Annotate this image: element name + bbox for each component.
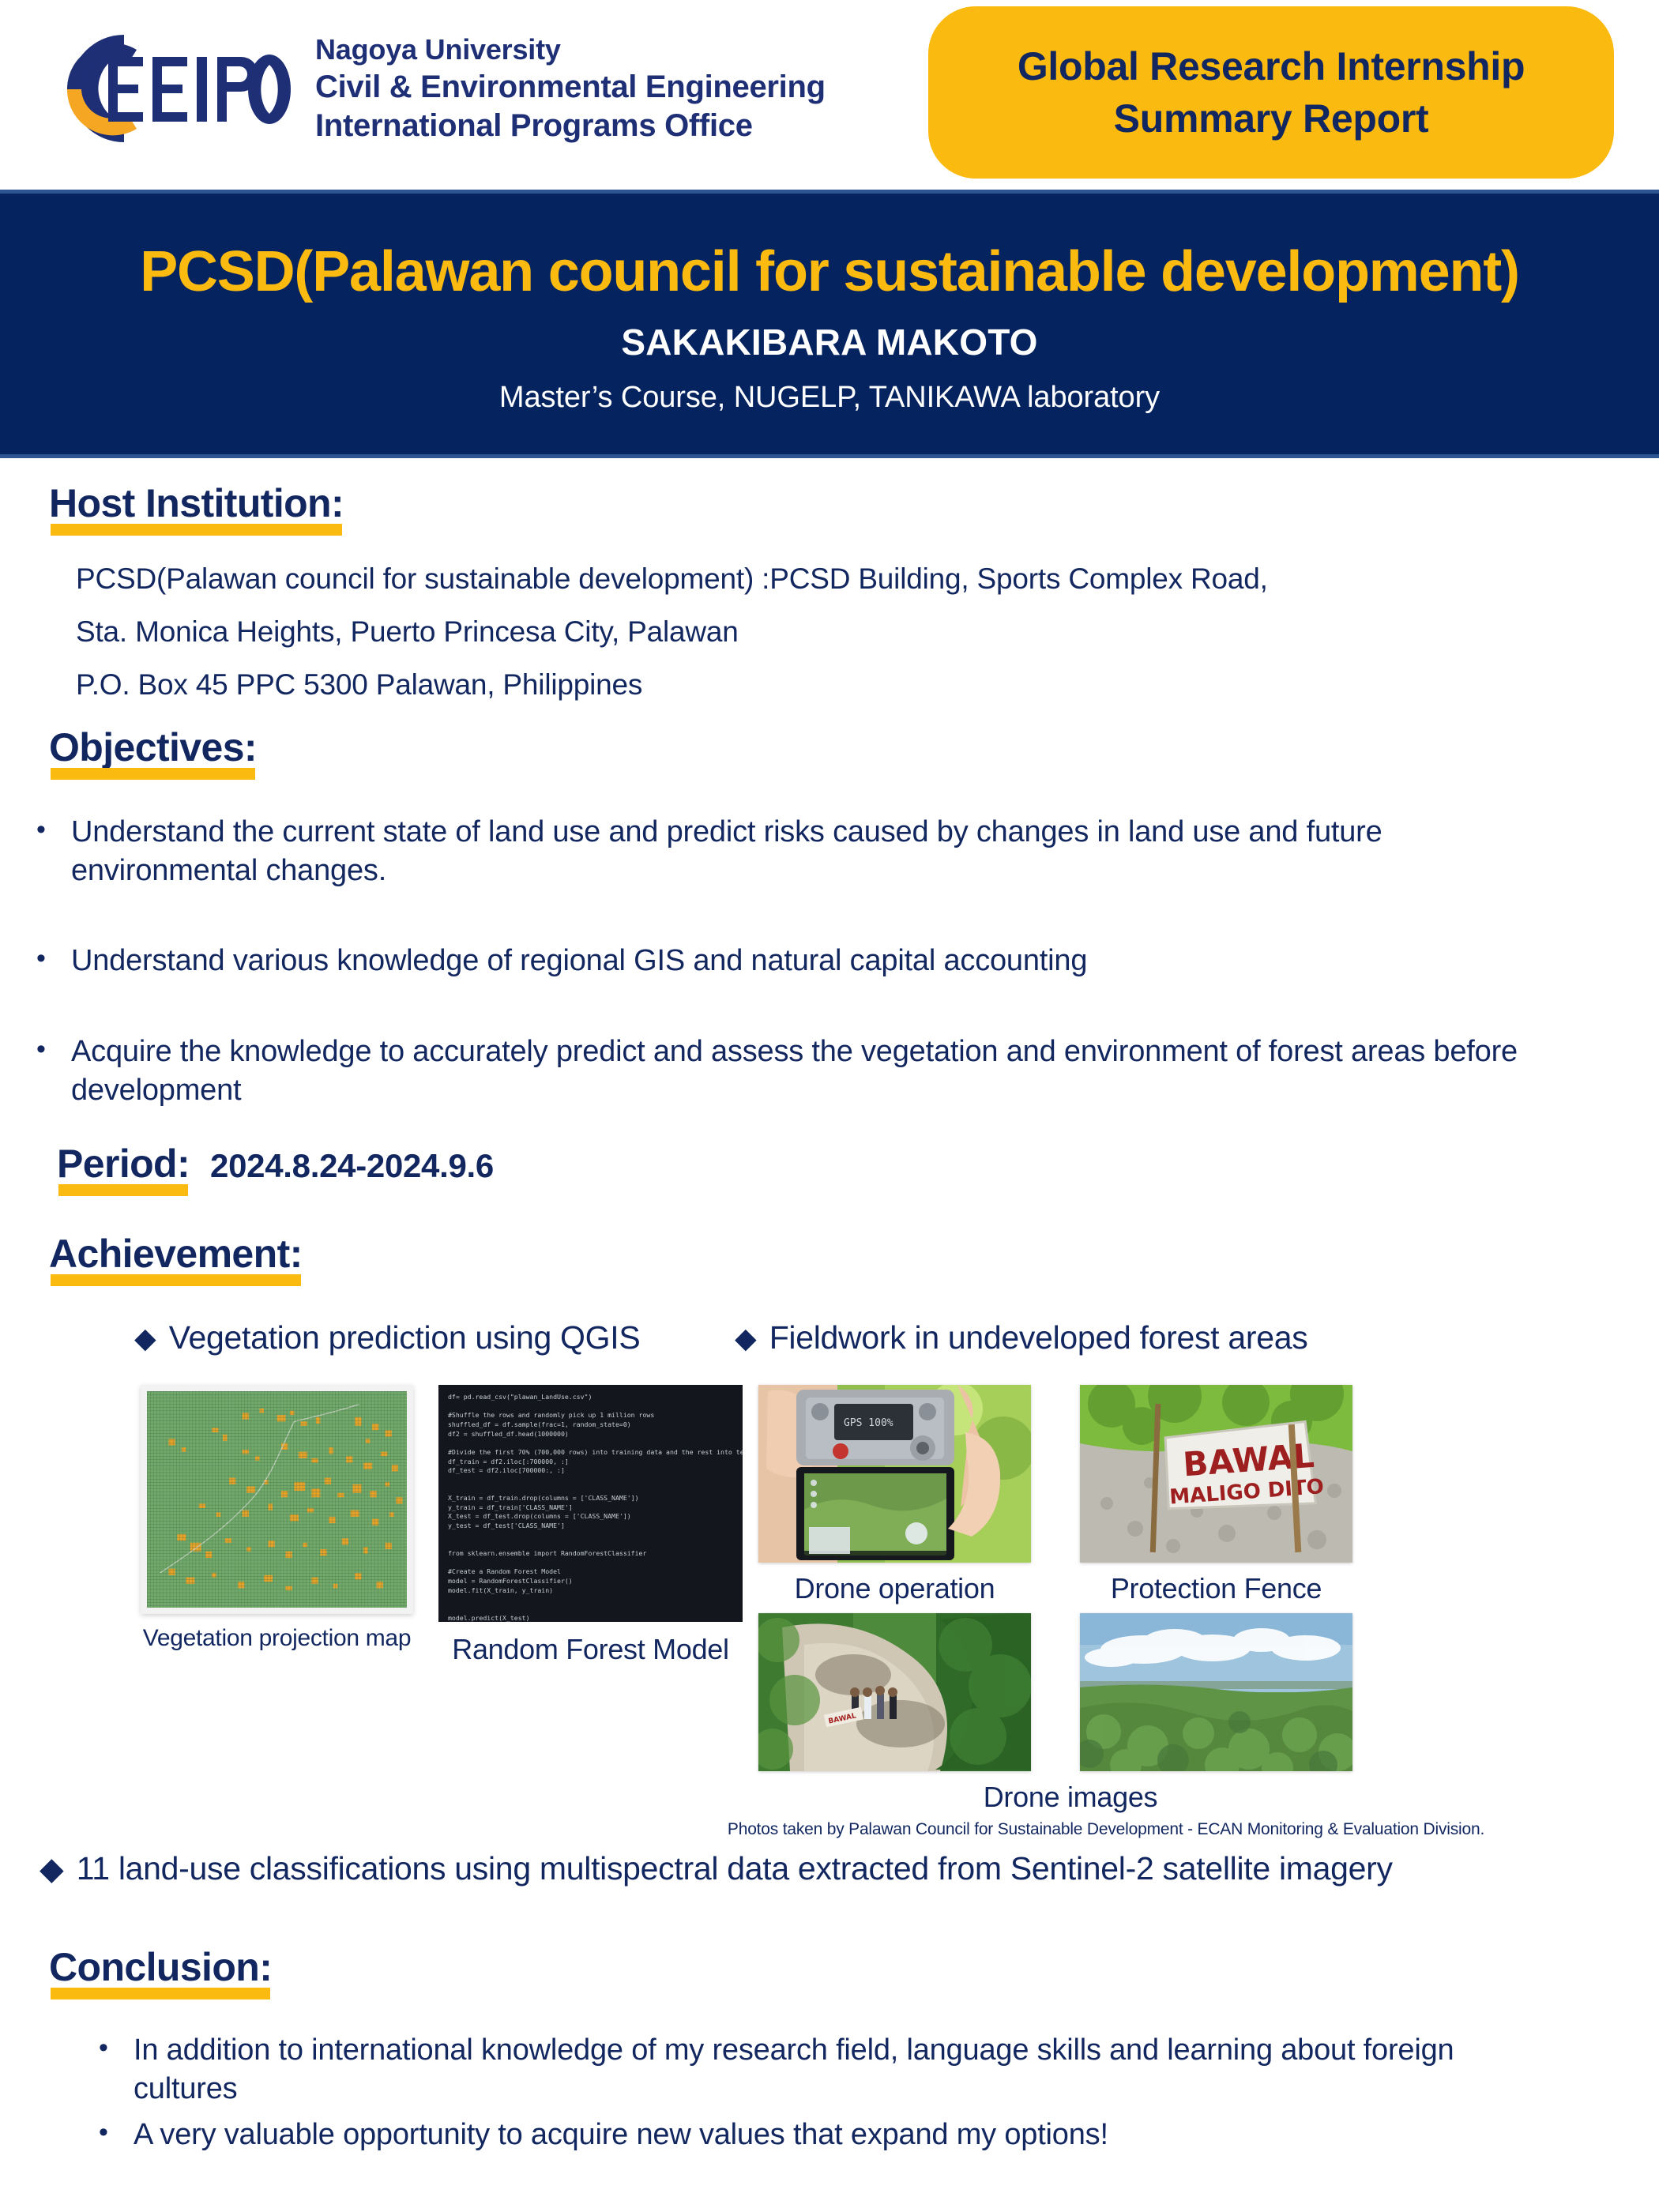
- objective-text: Understand various knowledge of regional…: [71, 942, 1087, 980]
- list-item: • In addition to international knowledge…: [99, 2031, 1600, 2108]
- random-forest-code: df= pd.read_csv("plawan_LandUse.csv") #S…: [448, 1393, 733, 1622]
- conclusion-text: A very valuable opportunity to acquire n…: [134, 2116, 1108, 2154]
- protection-fence-caption: Protection Fence: [1080, 1572, 1352, 1605]
- badge-line-2: Summary Report: [1114, 95, 1429, 142]
- logo-office-name: International Programs Office: [315, 108, 826, 145]
- achievement-columns: ◆ Vegetation prediction using QGIS: [0, 1319, 1659, 1839]
- list-item: • Acquire the knowledge to accurately pr…: [36, 1033, 1569, 1109]
- author-affiliation: Master’s Course, NUGELP, TANIKAWA labora…: [499, 381, 1160, 415]
- photo-credit: Photos taken by Palawan Council for Sust…: [671, 1820, 1540, 1839]
- address-line-1: PCSD(Palawan council for sustainable dev…: [76, 564, 1659, 593]
- achievement-right-group: ◆ Fieldwork in undeveloped forest areas: [822, 1319, 1517, 1839]
- logo-wordmark: Nagoya University Civil & Environmental …: [315, 34, 826, 145]
- address-line-3: P.O. Box 45 PPC 5300 Palawan, Philippine…: [76, 670, 1659, 699]
- bullet-dot-icon: •: [99, 2116, 116, 2150]
- diamond-bullet-icon: ◆: [735, 1324, 757, 1352]
- achievement-left-group: ◆ Vegetation prediction using QGIS: [134, 1319, 822, 1839]
- objective-text: Understand the current state of land use…: [71, 813, 1517, 890]
- conclusion-section: Conclusion:: [49, 1944, 1659, 1995]
- vegetation-prediction-header: ◆ Vegetation prediction using QGIS: [134, 1319, 822, 1356]
- host-institution-heading: Host Institution:: [49, 480, 344, 531]
- page-header: Nagoya University Civil & Environmental …: [0, 0, 1659, 190]
- vegetation-map-caption: Vegetation projection map: [141, 1625, 413, 1652]
- eeipo-logo-icon: [43, 22, 304, 156]
- page-body: Host Institution: PCSD(Palawan council f…: [0, 480, 1659, 2154]
- protection-fence-sign-photo: BAWAL MALIGO DITO: [1080, 1385, 1352, 1563]
- fieldwork-title: Fieldwork in undeveloped forest areas: [769, 1319, 1308, 1356]
- title-band: PCSD(Palawan council for sustainable dev…: [0, 190, 1659, 458]
- list-item: • Understand various knowledge of region…: [36, 942, 1569, 980]
- objectives-heading: Objectives:: [49, 724, 257, 775]
- svg-text:GPS 100%: GPS 100%: [844, 1417, 893, 1429]
- drone-operation-caption: Drone operation: [758, 1572, 1031, 1605]
- page-title: PCSD(Palawan council for sustainable dev…: [140, 241, 1519, 303]
- logo-university-name: Nagoya University: [315, 34, 826, 66]
- fieldwork-photo-grid: GPS 100%: [758, 1385, 1517, 1771]
- report-type-badge: Global Research Internship Summary Repor…: [928, 6, 1614, 179]
- conclusion-text: In addition to international knowledge o…: [134, 2031, 1548, 2108]
- fieldwork-photo-column-2: BAWAL MALIGO DITO Protection Fence: [1080, 1385, 1352, 1771]
- achievement-final-point: ◆ 11 land-use classifications using mult…: [39, 1850, 1659, 1887]
- final-point-text: 11 land-use classifications using multis…: [77, 1850, 1393, 1887]
- diamond-bullet-icon: ◆: [39, 1853, 64, 1885]
- conclusion-list: • In addition to international knowledge…: [99, 2031, 1600, 2154]
- vegetation-raster-map: [147, 1391, 407, 1608]
- list-item: • A very valuable opportunity to acquire…: [99, 2116, 1600, 2154]
- period-heading: Period:: [57, 1141, 190, 1191]
- random-forest-caption: Random Forest Model: [438, 1633, 743, 1666]
- drone-controller-photo: GPS 100%: [758, 1385, 1031, 1563]
- logo-department-name: Civil & Environmental Engineering: [315, 70, 826, 106]
- bullet-dot-icon: •: [36, 813, 54, 847]
- drone-aerial-forest-photo: [1080, 1613, 1352, 1771]
- badge-line-1: Global Research Internship: [1018, 43, 1525, 90]
- objectives-list: • Understand the current state of land u…: [36, 813, 1569, 1109]
- drone-images-caption: Drone images: [758, 1781, 1382, 1814]
- host-institution-section: Host Institution:: [49, 480, 1659, 531]
- vegetation-prediction-title: Vegetation prediction using QGIS: [169, 1319, 641, 1356]
- author-name: SAKAKIBARA MAKOTO: [621, 321, 1037, 363]
- host-institution-address: PCSD(Palawan council for sustainable dev…: [76, 564, 1659, 699]
- achievement-heading: Achievement:: [49, 1231, 303, 1281]
- fieldwork-photo-column-1: GPS 100%: [758, 1385, 1031, 1771]
- period-section: Period: 2024.8.24-2024.9.6: [57, 1141, 1659, 1191]
- eeipo-logo-block: Nagoya University Civil & Environmental …: [43, 22, 826, 156]
- list-item: • Understand the current state of land u…: [36, 813, 1569, 890]
- bullet-dot-icon: •: [36, 1033, 54, 1066]
- conclusion-heading: Conclusion:: [49, 1944, 272, 1995]
- bullet-dot-icon: •: [36, 942, 54, 976]
- fieldwork-header: ◆ Fieldwork in undeveloped forest areas: [735, 1319, 1517, 1356]
- objective-text: Acquire the knowledge to accurately pred…: [71, 1033, 1548, 1109]
- address-line-2: Sta. Monica Heights, Puerto Princesa Cit…: [76, 617, 1659, 646]
- drone-aerial-team-photo: BAWAL: [758, 1613, 1031, 1771]
- period-value: 2024.8.24-2024.9.6: [210, 1147, 494, 1185]
- achievement-section: Achievement:: [49, 1231, 1659, 1281]
- report-page: Nagoya University Civil & Environmental …: [0, 0, 1659, 2212]
- objectives-section: Objectives:: [49, 724, 1659, 775]
- vegetation-projection-map-figure: [141, 1385, 413, 1614]
- bullet-dot-icon: •: [99, 2031, 116, 2065]
- random-forest-code-figure: df= pd.read_csv("plawan_LandUse.csv") #S…: [438, 1385, 743, 1622]
- diamond-bullet-icon: ◆: [134, 1324, 156, 1352]
- vegetation-figures: Vegetation projection map df= pd.read_cs…: [134, 1385, 822, 1666]
